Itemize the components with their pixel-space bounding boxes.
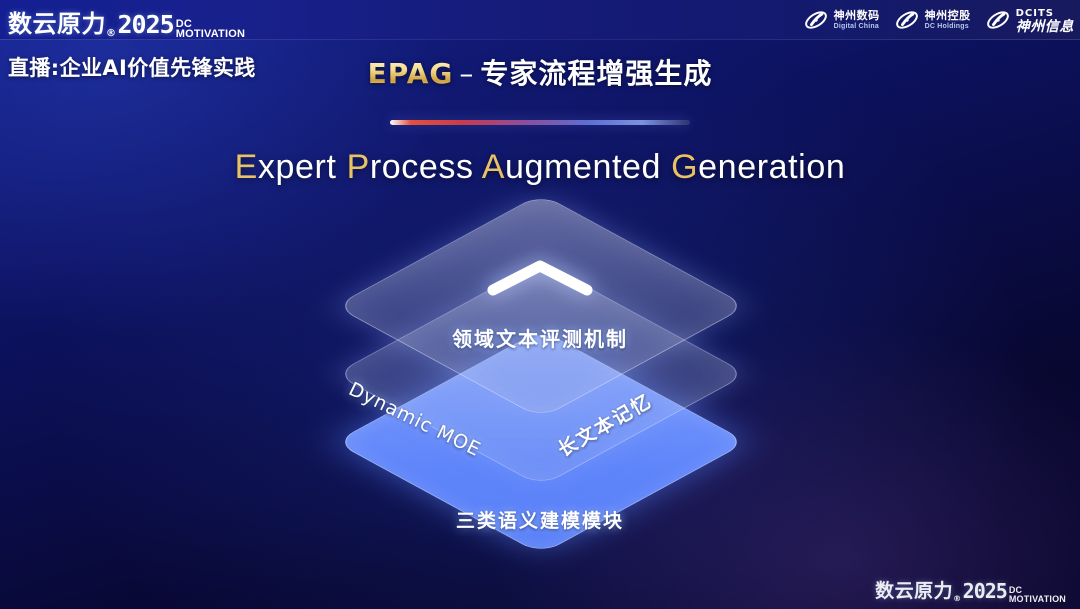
logo-name-cn: 神州信息 [1016,19,1074,33]
brand-year: 2025 [963,579,1007,603]
logo-dcits: DCITS 神州信息 [985,7,1074,33]
brand-logo-top: 数云原力®2025 DC MOTIVATION [8,4,245,39]
brand-motivation-line: MOTIVATION [1009,595,1066,603]
subtitle-part: P [347,148,370,186]
brand-dc-motivation: DC MOTIVATION [1009,586,1066,603]
logo-text: 神州数码 Digital China [834,10,880,30]
brand-motivation-line: MOTIVATION [176,29,245,39]
title-chinese: 专家流程增强生成 [480,57,712,90]
subtitle-part: eneration [698,148,845,186]
gradient-divider [390,120,690,125]
brand-registered-mark: ® [953,594,962,603]
title-acronym: EPAG [368,57,454,90]
layer-stack-diagram: 三类语义建模模块 Dynamic MOE 长文本记忆 领域文本评测机制 [290,222,790,572]
swirl-icon [985,7,1011,33]
stack-layer-top-caption: 领域文本评测机制 [290,323,790,352]
title-dash: – [453,57,480,90]
stack-layer-bottom-caption: 三类语义建模模块 [290,506,790,533]
subtitle-part: G [671,148,698,186]
swirl-icon [894,7,920,33]
subtitle-part: E [235,148,258,186]
live-stream-banner: 直播:企业AI价值先锋实践 [8,52,256,82]
logo-text: DCITS 神州信息 [1016,7,1074,33]
logo-name-cn: 神州控股 [925,10,971,21]
logo-digital-china: 神州数码 Digital China [803,7,880,33]
brand-logo-watermark: 数云原力®2025 DC MOTIVATION [875,576,1066,603]
subtitle-part: xpert [258,148,347,186]
brand-name-cn: 数云原力 [875,576,953,603]
subtitle: Expert Process Augmented Generation [0,148,1080,187]
logo-name-cn: 神州数码 [834,10,880,21]
layer-plate [335,194,748,419]
logo-name-en: DC Holdings [925,23,971,30]
swirl-icon [803,7,829,33]
subtitle-part: ugmented [505,148,671,186]
subtitle-part: A [482,148,505,186]
corporate-logo-row: 神州数码 Digital China 神州控股 DC Holdings [803,5,1074,35]
brand-registered-mark: ® [106,28,117,39]
logo-name-en: Digital China [834,23,880,30]
logo-text: 神州控股 DC Holdings [925,10,971,30]
logo-dc-holdings: 神州控股 DC Holdings [894,7,971,33]
brand-dc-motivation: DC MOTIVATION [176,19,245,39]
slide-canvas: 数云原力®2025 DC MOTIVATION 神州数码 Digital Chi… [0,0,1080,609]
chevron-up-icon [487,260,593,296]
brand-year: 2025 [118,10,174,39]
subtitle-part: rocess [370,148,482,186]
brand-name-cn: 数云原力 [8,4,106,39]
